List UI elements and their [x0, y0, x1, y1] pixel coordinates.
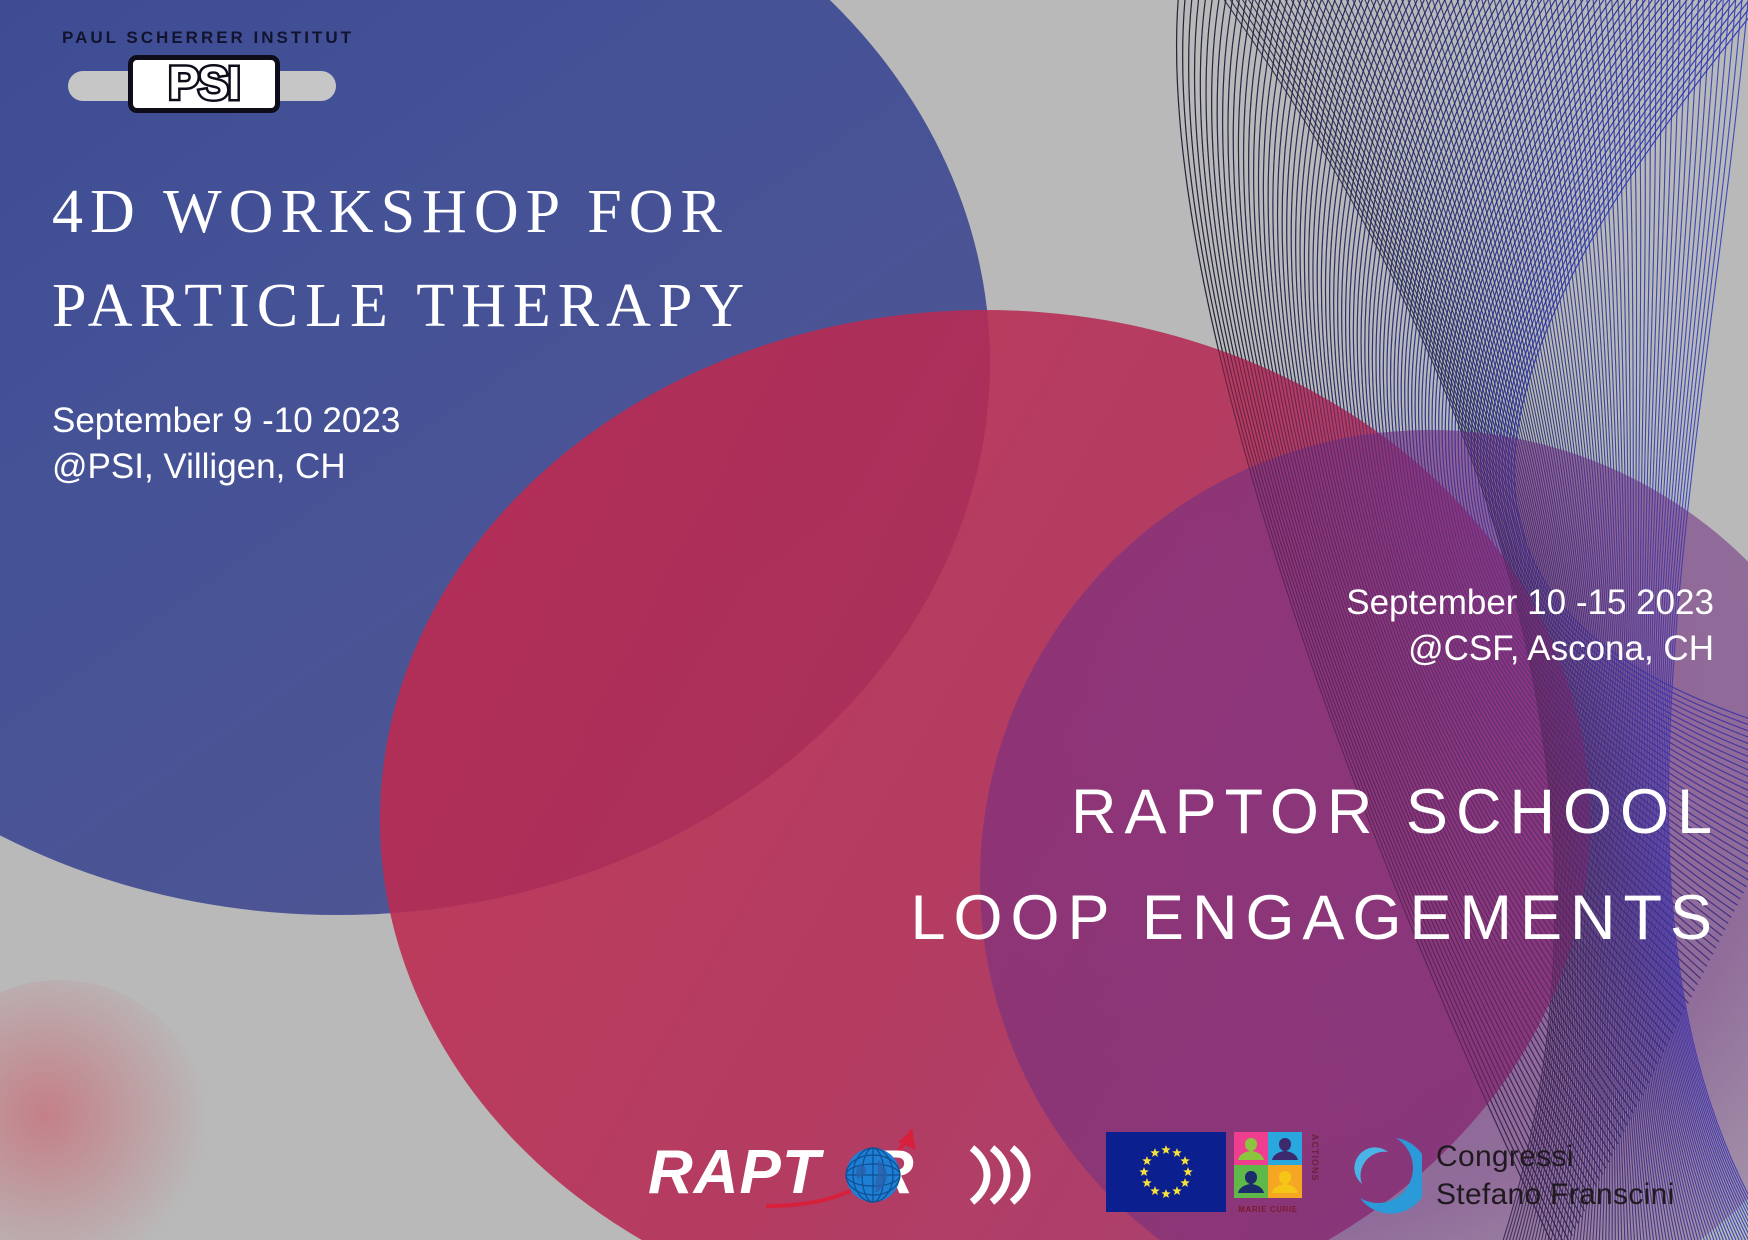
msca-quadrant: [1268, 1132, 1302, 1165]
msca-bottom-label: MARIE CURIE: [1234, 1205, 1302, 1214]
school-location: @CSF, Ascona, CH: [1346, 626, 1714, 672]
msca-quadrant: [1234, 1165, 1268, 1198]
workshop-meta: September 9 -10 2023 @PSI, Villigen, CH: [52, 398, 400, 490]
psi-wordmark: PAUL SCHERRER INSTITUT: [62, 28, 342, 48]
msca-quadrant: [1234, 1132, 1268, 1165]
msca-quadrants: [1234, 1132, 1302, 1198]
workshop-dates: September 9 -10 2023: [52, 398, 400, 444]
csf-line2: Stefano Franscini: [1436, 1176, 1675, 1214]
congressi-stefano-franscini-logo: Congressi Stefano Franscini: [1340, 1126, 1720, 1218]
csf-line1: Congressi: [1436, 1138, 1675, 1176]
school-title-line2: LOOP ENGAGEMENTS: [620, 866, 1720, 972]
school-meta: September 10 -15 2023 @CSF, Ascona, CH: [1346, 580, 1714, 672]
psi-acronym: PSI: [128, 54, 280, 112]
msca-silhouette-icon: [1268, 1165, 1302, 1198]
psi-logo: PAUL SCHERRER INSTITUT PSI: [62, 28, 342, 113]
psi-acronym-label: PSI: [168, 56, 239, 110]
school-dates: September 10 -15 2023: [1346, 580, 1714, 626]
csf-wordmark: Congressi Stefano Franscini: [1436, 1138, 1675, 1214]
poster-canvas: PAUL SCHERRER INSTITUT PSI 4D WORKSHOP F…: [0, 0, 1748, 1240]
msca-silhouette-icon: [1234, 1132, 1268, 1165]
msca-silhouette-icon: [1268, 1132, 1302, 1165]
sponsor-logo-strip: RAPTOR: [0, 1124, 1748, 1234]
psi-mark: PSI: [62, 55, 342, 113]
msca-silhouette-icon: [1234, 1165, 1268, 1198]
workshop-title: 4D WORKSHOP FOR PARTICLE THERAPY: [52, 165, 952, 353]
raptor-text-before: RAPT: [648, 1138, 820, 1207]
workshop-location: @PSI, Villigen, CH: [52, 444, 400, 490]
eu-flag: [1106, 1132, 1226, 1212]
raptor-globe-icon: [844, 1146, 902, 1204]
marie-curie-actions-logo: MARIE CURIE ACTIONS: [1234, 1132, 1318, 1212]
workshop-title-line2: PARTICLE THERAPY: [52, 259, 952, 353]
school-title: RAPTOR SCHOOL LOOP ENGAGEMENTS: [620, 760, 1720, 972]
csf-swirl-icon: [1340, 1132, 1422, 1214]
raptor-signal-waves-icon: [966, 1142, 1038, 1208]
workshop-title-line1: 4D WORKSHOP FOR: [52, 165, 952, 259]
raptor-logo: RAPTOR: [648, 1128, 1038, 1220]
eu-stars-icon: [1106, 1132, 1226, 1212]
school-title-line1: RAPTOR SCHOOL: [620, 760, 1720, 866]
msca-quadrant: [1268, 1165, 1302, 1198]
msca-side-label: ACTIONS: [1310, 1134, 1320, 1200]
